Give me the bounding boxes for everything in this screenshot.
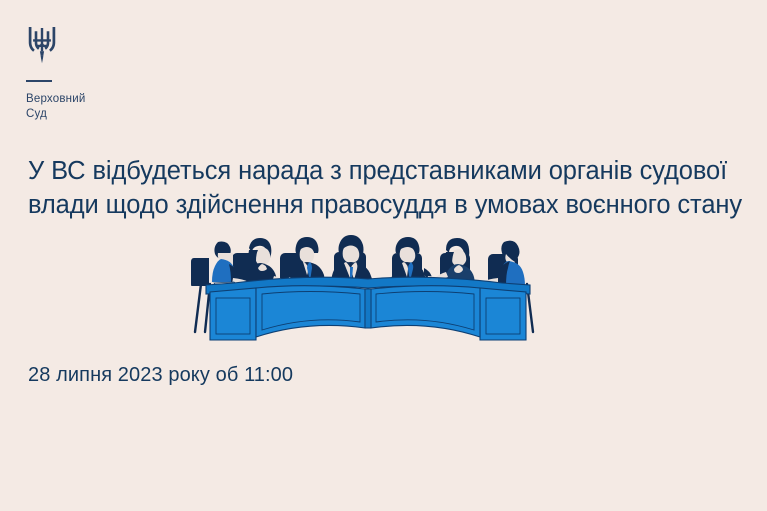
brand-block: Верховний Суд — [26, 24, 186, 122]
page-headline: У ВС відбудеться нарада з представниками… — [28, 154, 744, 222]
poster-canvas: Верховний Суд У ВС відбудеться нарада з … — [0, 0, 767, 511]
event-datetime: 28 липня 2023 року об 11:00 — [28, 361, 293, 389]
conference-table-meeting-illustration — [188, 228, 548, 350]
brand-divider — [26, 80, 52, 82]
ukraine-tryzub-icon — [26, 24, 186, 66]
brand-name: Верховний Суд — [26, 92, 186, 122]
